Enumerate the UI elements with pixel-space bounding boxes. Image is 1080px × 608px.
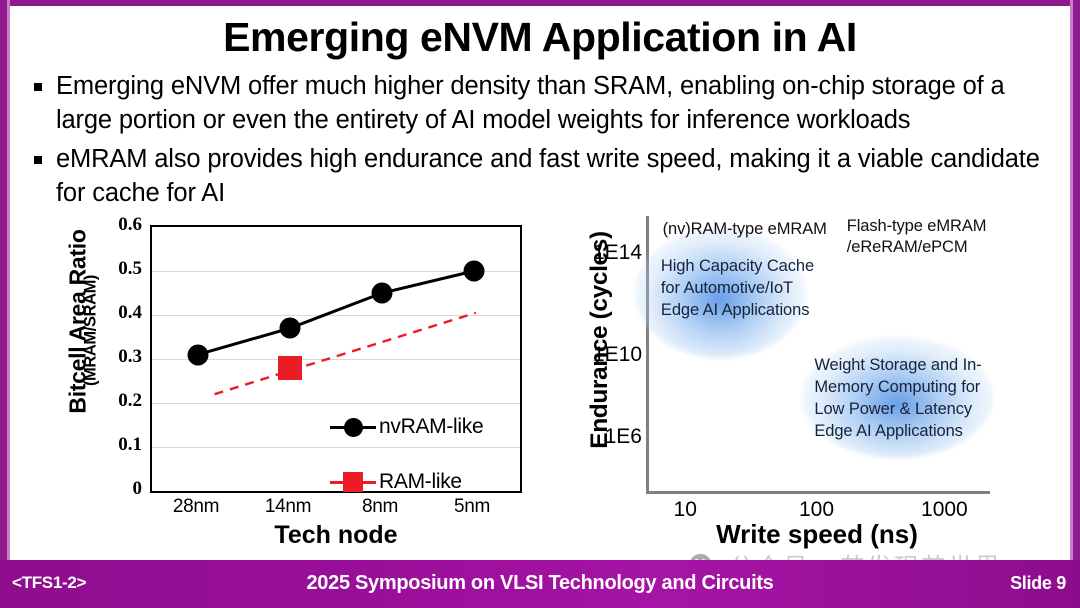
right-chart-category-header: Flash-type eMRAM /eReRAM/ePCM: [847, 216, 987, 259]
left-chart-y-tick-label: 0: [82, 478, 142, 500]
left-chart-data-point: [188, 344, 209, 365]
right-chart-y-ticks: 1E141E101E6: [576, 216, 642, 486]
right-chart-plot-area: High Capacity Cache for Automotive/IoT E…: [646, 216, 990, 494]
footer-conference-name: 2025 Symposium on VLSI Technology and Ci…: [0, 572, 1080, 595]
left-chart-x-tick-label: 14nm: [265, 496, 311, 518]
left-chart-legend-entry: nvRAM-like: [330, 415, 483, 439]
left-chart-x-tick-label: 5nm: [454, 496, 490, 518]
legend-swatch: [330, 426, 376, 429]
left-chart-data-point: [372, 283, 393, 304]
frame-right-border: [1073, 0, 1080, 560]
frame-left-border: [0, 0, 7, 560]
right-chart-y-tick-label: 1E14: [576, 241, 642, 265]
legend-swatch: [330, 481, 376, 484]
right-chart-region-label: High Capacity Cache for Automotive/IoT E…: [661, 256, 814, 322]
right-chart-region-label: Weight Storage and In- Memory Computing …: [814, 355, 981, 443]
left-chart-y-tick-label: 0.6: [82, 214, 142, 236]
left-chart-x-axis-label: Tech node: [150, 521, 522, 550]
slide-title: Emerging eNVM Application in AI: [0, 16, 1080, 59]
slide-footer: <TFS1-2> 2025 Symposium on VLSI Technolo…: [0, 560, 1080, 608]
legend-marker-circle-icon: [344, 418, 363, 437]
left-chart-x-tick-label: 28nm: [173, 496, 219, 518]
bullet-item: Emerging eNVM offer much higher density …: [34, 70, 1058, 138]
left-chart-x-ticks: 28nm14nm8nm5nm: [150, 496, 522, 522]
left-chart-y-tick-label: 0.2: [82, 390, 142, 412]
legend-label: nvRAM-like: [379, 415, 483, 439]
left-chart-data-point: [464, 261, 485, 282]
bullet-text: eMRAM also provides high endurance and f…: [56, 143, 1058, 211]
frame-top-border: [0, 0, 1080, 6]
slide-canvas: Emerging eNVM Application in AI Emerging…: [0, 0, 1080, 608]
right-chart-category-header: (nv)RAM-type eMRAM: [663, 219, 827, 240]
left-chart-legend-entry: RAM-like: [330, 470, 462, 494]
left-chart-y-tick-label: 0.3: [82, 346, 142, 368]
legend-marker-square-icon: [343, 472, 363, 492]
left-chart-y-ticks: 00.10.20.30.40.50.6: [82, 216, 142, 492]
legend-label: RAM-like: [379, 470, 462, 494]
square-bullet-icon: [34, 156, 42, 164]
bullet-list: Emerging eNVM offer much higher density …: [34, 70, 1058, 216]
chart-endurance-vs-write-speed: Endurance (cycles) 1E141E101E6 High Capa…: [552, 216, 1072, 556]
right-chart-x-axis-label: Write speed (ns): [622, 519, 1012, 550]
frame-left-border-inner: [7, 0, 10, 560]
left-chart-plot-area: nvRAM-likeRAM-like: [150, 225, 522, 493]
left-chart-data-point: [280, 318, 301, 339]
chart-bitcell-area-ratio: Bitcell Area Ratio (MRAM/SRAM) 00.10.20.…: [28, 216, 548, 552]
square-bullet-icon: [34, 83, 42, 91]
left-chart-y-tick-label: 0.1: [82, 434, 142, 456]
left-chart-data-point: [278, 356, 302, 380]
right-chart-y-tick-label: 1E6: [576, 425, 642, 449]
bullet-item: eMRAM also provides high endurance and f…: [34, 143, 1058, 211]
left-chart-y-tick-label: 0.4: [82, 302, 142, 324]
right-chart-y-tick-label: 1E10: [576, 343, 642, 367]
footer-slide-number: Slide 9: [1010, 573, 1066, 594]
bullet-text: Emerging eNVM offer much higher density …: [56, 70, 1058, 138]
left-chart-y-tick-label: 0.5: [82, 258, 142, 280]
left-chart-x-tick-label: 8nm: [362, 496, 398, 518]
